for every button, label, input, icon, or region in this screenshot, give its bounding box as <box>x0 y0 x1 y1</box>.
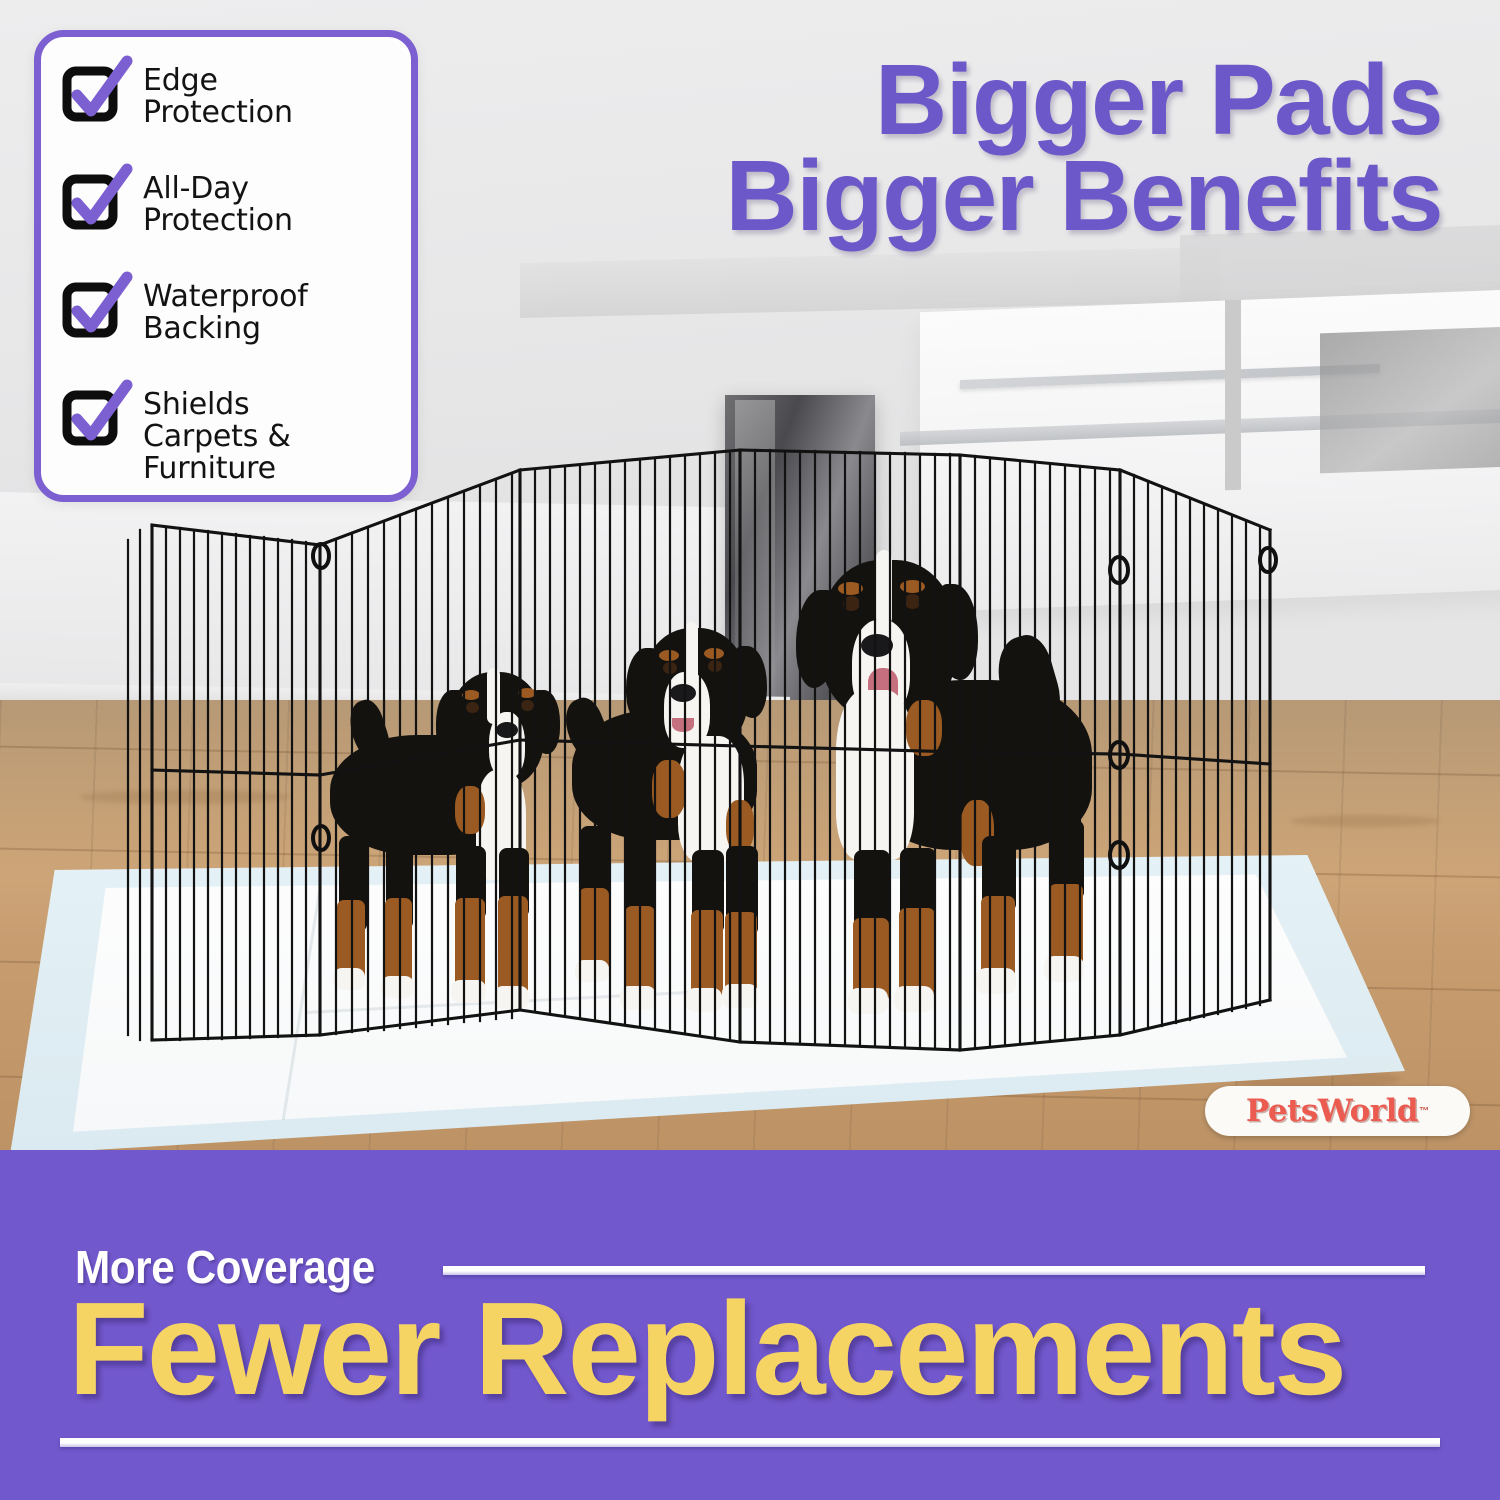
dog-paw <box>894 986 934 1012</box>
dog-leg-rear-right-tan <box>625 906 655 998</box>
dog-tan-flank <box>726 800 754 852</box>
cabinet-divider <box>1225 300 1241 491</box>
feature-label: Shields Carpets & Furniture <box>143 387 291 485</box>
dog-eye-left <box>843 596 860 611</box>
dog-eye-right <box>521 700 534 711</box>
dog-paw <box>381 976 414 998</box>
floor-grain <box>80 790 290 804</box>
dog-tongue <box>672 718 694 732</box>
feature-label: Waterproof Backing <box>143 279 308 345</box>
dog-nose <box>670 684 696 702</box>
dog-paw <box>722 984 758 1008</box>
banner-rule-top <box>443 1266 1425 1275</box>
banner-headline: Fewer Replacements <box>68 1283 1468 1415</box>
dog-leg-front-right-tan <box>498 896 528 996</box>
brand-name: PetsWorld <box>1246 1093 1418 1129</box>
dog-leg-front-right-tan <box>725 912 757 994</box>
feature-item-shields-carpets-furniture: Shields Carpets & Furniture <box>63 387 391 485</box>
checkbox-checked-icon <box>63 175 125 233</box>
product-marketing-image: Bigger Pads Bigger Benefits Edge Protect… <box>0 0 1500 1500</box>
feature-list-card: Edge Protection All-Day Protection Water… <box>34 30 418 502</box>
cabinet-reflection <box>1320 327 1500 474</box>
dog-paw <box>494 986 529 1009</box>
dog-tan-shoulder <box>906 700 942 756</box>
dog-nose <box>861 634 893 657</box>
dog-nose <box>496 722 518 738</box>
brand-logo: PetsWorld™ <box>1205 1086 1470 1136</box>
dog-eye-right <box>904 594 921 609</box>
floor-grain <box>1290 815 1440 827</box>
headline-line-1: Bigger Pads <box>725 52 1442 148</box>
feature-item-all-day-protection: All-Day Protection <box>63 171 391 237</box>
dog-paw <box>1044 956 1084 982</box>
feature-item-waterproof-backing: Waterproof Backing <box>63 279 391 345</box>
dog-brow-left <box>462 690 480 700</box>
dog-chest <box>836 690 914 860</box>
banner-rule-bottom <box>60 1438 1440 1447</box>
dog-paw <box>451 980 486 1003</box>
dog-brow-right <box>518 688 536 698</box>
feature-label: All-Day Protection <box>143 171 293 237</box>
dog-paw <box>620 986 656 1010</box>
checkbox-checked-icon <box>63 67 125 125</box>
checkbox-checked-icon <box>63 391 125 449</box>
dog-blaze <box>876 550 892 626</box>
dog-paw <box>333 968 365 990</box>
dog-paw <box>976 968 1016 994</box>
trademark-symbol: ™ <box>1419 1106 1429 1117</box>
dog-paw <box>848 988 888 1014</box>
dog-brow-left <box>838 582 863 595</box>
checkbox-checked-icon <box>63 283 125 341</box>
feature-label: Edge Protection <box>143 63 293 129</box>
headline-line-2: Bigger Benefits <box>725 148 1442 244</box>
dog-eye-left <box>663 662 677 674</box>
headline-block: Bigger Pads Bigger Benefits <box>725 52 1442 244</box>
dog-tan-shoulder <box>455 786 485 834</box>
feature-item-edge-protection: Edge Protection <box>63 63 391 129</box>
dog-eye-left <box>466 702 479 713</box>
dog-paw <box>575 960 609 982</box>
dog-brow-left <box>659 650 679 661</box>
dog-tan-shoulder <box>652 760 686 818</box>
dog-eye-right <box>708 660 722 672</box>
dog-leg-front-left-tan <box>691 910 723 998</box>
dog-leg-rear-right-tan <box>385 898 412 988</box>
dog-brow-right <box>900 580 925 593</box>
dog-brow-right <box>704 648 724 659</box>
dog-paw <box>686 988 722 1012</box>
